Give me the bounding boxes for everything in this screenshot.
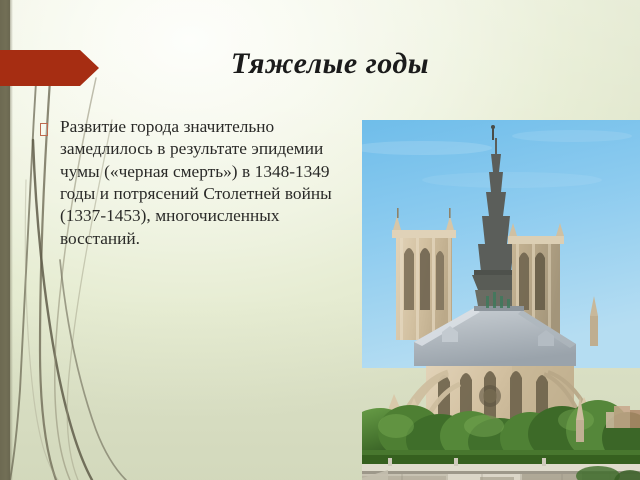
bullet-square-icon (40, 123, 48, 136)
notre-dame-de-paris-photo (362, 120, 640, 480)
presentation-slide: Тяжелые годы Развитие города значительно… (0, 0, 640, 480)
list-item: Развитие города значительно замедлилось … (40, 116, 350, 250)
page-title: Тяжелые годы (180, 47, 480, 80)
content-body: Развитие города значительно замедлилось … (40, 116, 350, 250)
bullet-text: Развитие города значительно замедлилось … (60, 116, 350, 250)
red-arrow-banner (0, 50, 100, 86)
